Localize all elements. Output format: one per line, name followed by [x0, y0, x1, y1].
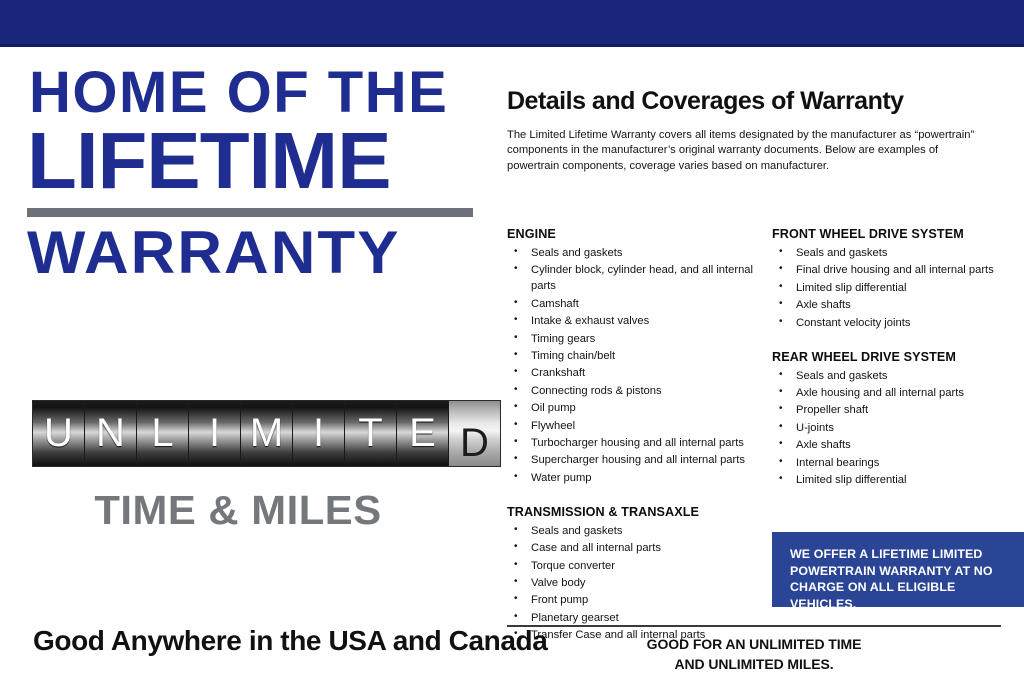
list-item: Oil pump	[507, 401, 759, 417]
list-item: Connecting rods & pistons	[507, 384, 759, 400]
list-item: Timing chain/belt	[507, 349, 759, 365]
odometer-cell-rolling: D	[449, 401, 500, 466]
odometer-cell: L	[137, 401, 189, 466]
odometer-digit: D	[460, 423, 489, 463]
odometer-cell: I	[293, 401, 345, 466]
list-item: Axle shafts	[772, 298, 1022, 314]
time-and-miles-caption: TIME & MILES	[28, 487, 448, 534]
odometer-cell: T	[345, 401, 397, 466]
section-heading-rear-wheel-drive: REAR WHEEL DRIVE SYSTEM	[772, 350, 1022, 364]
list-item: Seals and gaskets	[507, 246, 759, 262]
section-transmission: TRANSMISSION & TRANSAXLE Seals and gaske…	[507, 505, 759, 644]
list-item: Case and all internal parts	[507, 541, 759, 557]
list-item: Internal bearings	[772, 456, 1022, 472]
list-item: Cylinder block, cylinder head, and all i…	[507, 263, 759, 295]
list-item: Supercharger housing and all internal pa…	[507, 453, 759, 469]
coverage-column-right: FRONT WHEEL DRIVE SYSTEM Seals and gaske…	[772, 227, 1022, 507]
engine-list: Seals and gaskets Cylinder block, cylind…	[507, 246, 759, 487]
list-item: Limited slip differential	[772, 281, 1022, 297]
list-item: Intake & exhaust valves	[507, 314, 759, 330]
left-panel: HOME OF THE LIFETIME WARRANTY U N L I M …	[0, 47, 500, 681]
footer-line-2: AND UNLIMITED MILES.	[507, 655, 1001, 675]
list-item: Seals and gaskets	[772, 369, 1022, 385]
list-item: U-joints	[772, 421, 1022, 437]
section-heading-front-wheel-drive: FRONT WHEEL DRIVE SYSTEM	[772, 227, 1022, 241]
list-item: Torque converter	[507, 559, 759, 575]
odometer-digit: M	[250, 413, 283, 453]
section-engine: ENGINE Seals and gaskets Cylinder block,…	[507, 227, 759, 487]
list-item: Flywheel	[507, 419, 759, 435]
odometer-digit: L	[151, 413, 173, 453]
section-front-wheel-drive: FRONT WHEEL DRIVE SYSTEM Seals and gaske…	[772, 227, 1022, 332]
callout-text: WE OFFER A LIFETIME LIMITED POWERTRAIN W…	[790, 546, 1008, 612]
list-item: Water pump	[507, 471, 759, 487]
logo-divider-bar	[27, 208, 473, 217]
list-item: Turbocharger housing and all internal pa…	[507, 436, 759, 452]
top-blue-band	[0, 0, 1024, 44]
list-item: Crankshaft	[507, 366, 759, 382]
odometer-digit: U	[44, 413, 73, 453]
odometer-digit: T	[358, 413, 382, 453]
odometer-digit: N	[96, 413, 125, 453]
lifetime-warranty-logo: HOME OF THE LIFETIME WARRANTY	[27, 65, 475, 282]
coverage-column-left: ENGINE Seals and gaskets Cylinder block,…	[507, 227, 759, 662]
list-item: Constant velocity joints	[772, 316, 1022, 332]
rear-wheel-drive-list: Seals and gaskets Axle housing and all i…	[772, 369, 1022, 489]
list-item: Limited slip differential	[772, 473, 1022, 489]
odometer-digit: I	[313, 413, 324, 453]
odometer-graphic: U N L I M I T E D	[32, 400, 501, 467]
warranty-flyer: HOME OF THE LIFETIME WARRANTY U N L I M …	[0, 0, 1024, 681]
footer-divider	[507, 625, 1001, 627]
list-item: Axle housing and all internal parts	[772, 386, 1022, 402]
footer-text: GOOD FOR AN UNLIMITED TIME AND UNLIMITED…	[507, 635, 1001, 675]
odometer-digit: E	[409, 413, 436, 453]
odometer-cell: I	[189, 401, 241, 466]
logo-line-home-of-the: HOME OF THE	[29, 65, 475, 121]
footer-line-1: GOOD FOR AN UNLIMITED TIME	[507, 635, 1001, 655]
left-tagline: Good Anywhere in the USA and Canada	[33, 625, 547, 657]
odometer-digit: I	[209, 413, 220, 453]
odometer-cell: N	[85, 401, 137, 466]
list-item: Seals and gaskets	[772, 246, 1022, 262]
section-heading-transmission: TRANSMISSION & TRANSAXLE	[507, 505, 759, 519]
list-item: Axle shafts	[772, 438, 1022, 454]
details-intro-paragraph: The Limited Lifetime Warranty covers all…	[507, 128, 987, 174]
list-item: Camshaft	[507, 297, 759, 313]
list-item: Valve body	[507, 576, 759, 592]
logo-line-lifetime: LIFETIME	[27, 123, 484, 200]
odometer-cell: E	[397, 401, 449, 466]
odometer-cell: M	[241, 401, 293, 466]
logo-line-warranty: WARRANTY	[27, 224, 488, 282]
lifetime-warranty-callout: WE OFFER A LIFETIME LIMITED POWERTRAIN W…	[772, 532, 1024, 607]
list-item: Timing gears	[507, 332, 759, 348]
list-item: Front pump	[507, 593, 759, 609]
section-rear-wheel-drive: REAR WHEEL DRIVE SYSTEM Seals and gasket…	[772, 350, 1022, 489]
front-wheel-drive-list: Seals and gaskets Final drive housing an…	[772, 246, 1022, 332]
list-item: Propeller shaft	[772, 403, 1022, 419]
odometer-cell: U	[33, 401, 85, 466]
list-item: Final drive housing and all internal par…	[772, 263, 1022, 279]
details-title: Details and Coverages of Warranty	[507, 87, 904, 116]
right-panel: Details and Coverages of Warranty The Li…	[500, 47, 1024, 681]
list-item: Seals and gaskets	[507, 524, 759, 540]
section-heading-engine: ENGINE	[507, 227, 759, 241]
